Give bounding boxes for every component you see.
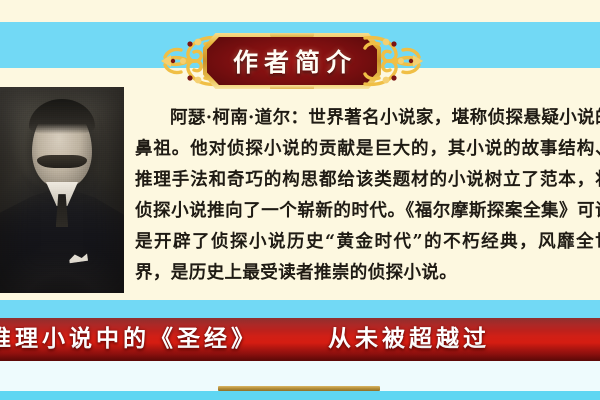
plaque-gold-frame: 作者简介 [203,33,381,89]
top-cream-band [0,0,600,22]
tagline-ribbon: 推理小说中的《圣经》 从未被超越过 [0,318,600,361]
plaque-bottom-tab [270,84,314,91]
title-plaque: 作者简介 [163,28,421,94]
plaque-inner-panel: 作者简介 [207,37,377,85]
portrait-vignette-overlay [0,87,124,293]
flourish-right-icon [361,30,425,92]
page-title: 作者简介 [227,43,357,79]
plaque-top-tab [270,31,314,38]
portrait-frame [0,84,128,296]
tagline-text-row: 推理小说中的《圣经》 从未被超越过 [0,318,490,361]
tagline-left: 推理小说中的《圣经》 [0,326,258,352]
author-bio-text: 阿瑟·柯南·道尔：世界著名小说家，堪称侦探悬疑小说的鼻祖。他对侦探小说的贡献是巨… [135,103,600,289]
author-introduction-poster: 作者简介 [0,0,600,400]
bottom-cyan-band [0,391,600,400]
author-portrait-photo [0,87,124,293]
lower-cyan-band [0,300,600,318]
tagline-right: 从未被超越过 [328,326,490,352]
